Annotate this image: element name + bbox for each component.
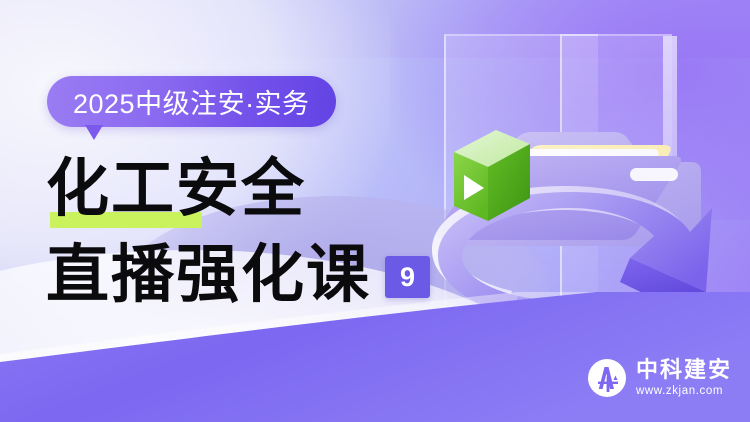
course-category-label: 2025中级注安·实务	[73, 82, 310, 121]
badge-tail-icon	[85, 125, 103, 140]
course-category-badge: 2025中级注安·实务	[47, 76, 336, 127]
headline-block: 化工安全 直播强化课 9	[46, 150, 476, 314]
paper-yellow-icon	[488, 145, 670, 233]
top-gradient-band	[0, 0, 750, 58]
episode-number-badge: 9	[385, 256, 430, 298]
headline-line-1-row: 化工安全	[46, 150, 476, 228]
person-star-circle-icon	[587, 358, 627, 398]
glass-panel-icon	[560, 34, 670, 334]
arrow-tail-shade-icon	[510, 296, 638, 323]
arrow-head-shade-icon	[620, 258, 706, 316]
brand-url: www.zkjan.com	[636, 386, 732, 398]
headline-line-2-row: 直播强化课 9	[46, 234, 476, 314]
glass-panel-icon	[663, 36, 677, 321]
course-banner: 2025中级注安·实务 化工安全 直播强化课 9 中科建安 www.zkjan.…	[0, 0, 750, 422]
headline-line-1: 化工安全	[46, 150, 476, 226]
brand-logo[interactable]: 中科建安 www.zkjan.com	[587, 358, 732, 398]
headline-line-2: 直播强化课	[46, 236, 371, 312]
media-folder-icon	[450, 132, 701, 246]
paper-white-icon	[476, 149, 658, 237]
curved-arrow-icon	[438, 192, 712, 314]
brand-name: 中科建安	[636, 359, 732, 381]
folder-tab-icon	[630, 168, 678, 181]
